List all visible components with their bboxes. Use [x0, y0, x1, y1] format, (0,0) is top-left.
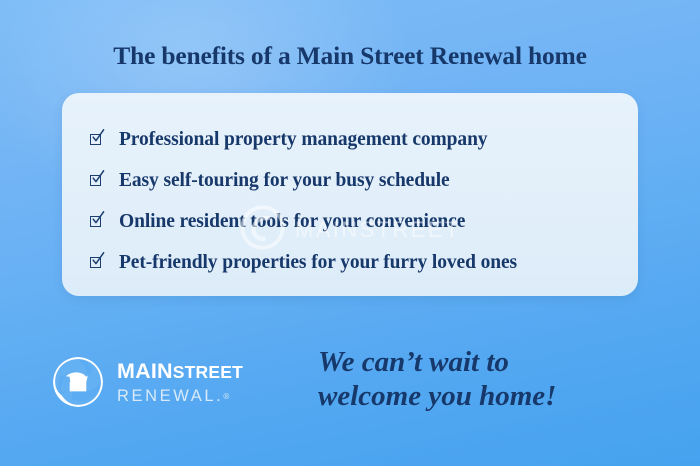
brand-wordmark-line2: RENEWAL.® — [117, 388, 243, 405]
brand-wordmark: MAINSTREET RENEWAL.® — [117, 361, 243, 405]
checkbox-checked-icon — [90, 174, 103, 187]
list-item: Pet-friendly properties for your furry l… — [84, 242, 638, 283]
list-item: Easy self-touring for your busy schedule — [84, 160, 638, 201]
brand-logo: MAINSTREET RENEWAL.® — [52, 356, 243, 408]
brand-wordmark-line1: MAINSTREET — [117, 361, 243, 383]
checkbox-checked-icon — [90, 215, 103, 228]
registered-mark-icon: ® — [223, 392, 229, 401]
mainstreet-swirl-logo-icon — [52, 356, 104, 408]
tagline-line-1: We can’t wait to — [318, 345, 556, 379]
promo-poster: The benefits of a Main Street Renewal ho… — [0, 0, 700, 466]
checkbox-checked-icon — [90, 256, 103, 269]
brand-word-street-rest: TREET — [185, 362, 243, 382]
page-title: The benefits of a Main Street Renewal ho… — [0, 42, 700, 70]
list-item-label: Easy self-touring for your busy schedule — [119, 171, 450, 191]
brand-word-street-cap: S — [173, 362, 185, 382]
list-item-label: Pet-friendly properties for your furry l… — [119, 253, 517, 273]
brand-word-main: MAIN — [117, 359, 173, 383]
tagline: We can’t wait to welcome you home! — [318, 345, 556, 413]
list-item: Online resident tools for your convenien… — [84, 201, 638, 242]
benefits-card: Professional property management company… — [62, 93, 638, 296]
checkbox-checked-icon — [90, 133, 103, 146]
tagline-line-2: welcome you home! — [318, 379, 556, 413]
list-item-label: Online resident tools for your convenien… — [119, 212, 465, 232]
brand-word-renewal: RENEWAL. — [117, 387, 223, 405]
list-item: Professional property management company — [84, 119, 638, 160]
list-item-label: Professional property management company — [119, 130, 487, 150]
